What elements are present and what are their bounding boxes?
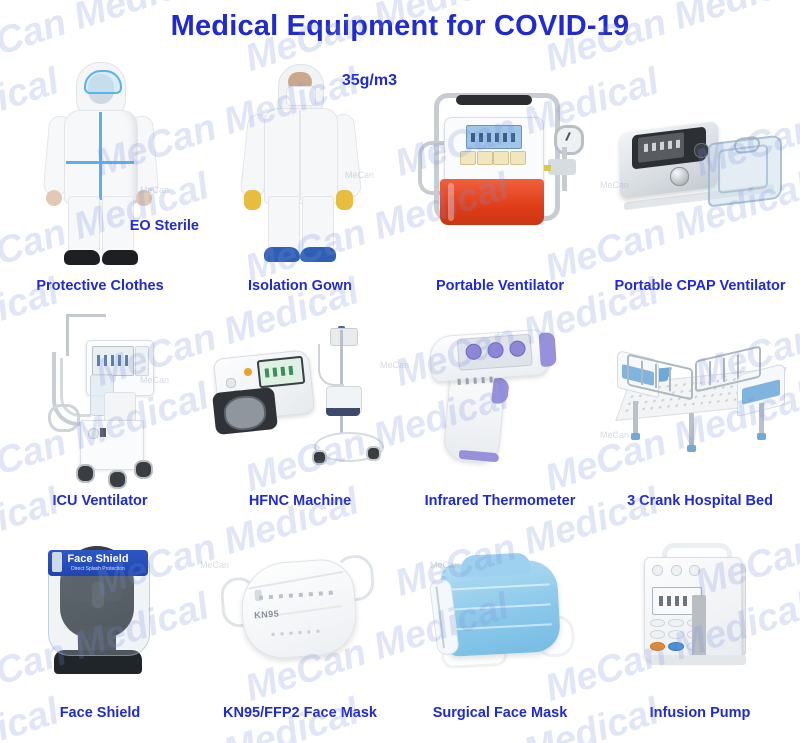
face-shield-subtitle-text: Direct Splash Protection (48, 566, 148, 572)
face-shield-mannequin-icon: Face Shield Direct Splash Protection (5, 518, 195, 705)
hospital-bed-3-crank-icon (605, 305, 795, 493)
product-label-protective-clothes: Protective Clothes (5, 278, 195, 305)
kn95-printed-text: KN95 (254, 609, 280, 621)
product-label-face-shield: Face Shield (5, 705, 195, 730)
product-cell-icu-ventilator[interactable]: ICU Ventilator (0, 305, 200, 518)
surgical-face-mask-icon (405, 518, 595, 705)
product-cell-infusion-pump[interactable]: Infusion Pump (600, 518, 800, 730)
product-label-infusion-pump: Infusion Pump (605, 705, 795, 730)
portable-ventilator-device-icon (405, 50, 595, 278)
product-label-isolation-gown: Isolation Gown (205, 278, 395, 305)
product-label-portable-cpap-ventilator: Portable CPAP Ventilator (605, 278, 795, 305)
overlay-note-eo-sterile: EO Sterile (130, 218, 199, 234)
product-cell-portable-cpap-ventilator[interactable]: Portable CPAP Ventilator (600, 50, 800, 305)
product-label-hfnc-machine: HFNC Machine (205, 493, 395, 518)
product-grid: EO Sterile Protective Clothes 35g/m3 Iso… (0, 50, 800, 743)
product-cell-isolation-gown[interactable]: 35g/m3 Isolation Gown (200, 50, 400, 305)
icu-ventilator-cart-icon (5, 305, 195, 493)
product-cell-kn95-face-mask[interactable]: KN95 KN95/FFP2 Face Mask (200, 518, 400, 730)
product-cell-infrared-thermometer[interactable]: Infrared Thermometer (400, 305, 600, 518)
infrared-thermometer-gun-icon (405, 305, 595, 493)
product-cell-protective-clothes[interactable]: EO Sterile Protective Clothes (0, 50, 200, 305)
hfnc-machine-device-icon (205, 305, 395, 493)
page-title-text: Medical Equipment for COVID-19 (171, 10, 630, 43)
product-label-hospital-bed: 3 Crank Hospital Bed (605, 493, 795, 518)
page-title: Medical Equipment for COVID-19 (0, 0, 800, 52)
product-cell-hospital-bed[interactable]: 3 Crank Hospital Bed (600, 305, 800, 518)
product-label-kn95-face-mask: KN95/FFP2 Face Mask (205, 705, 395, 730)
product-cell-surgical-face-mask[interactable]: Surgical Face Mask (400, 518, 600, 730)
overlay-note-grams-per-m3: 35g/m3 (342, 72, 397, 90)
kn95-face-mask-icon: KN95 (205, 518, 395, 705)
product-label-infrared-thermometer: Infrared Thermometer (405, 493, 595, 518)
product-label-surgical-face-mask: Surgical Face Mask (405, 705, 595, 730)
face-shield-brand-text: Face Shield (48, 553, 148, 565)
product-cell-portable-ventilator[interactable]: Portable Ventilator (400, 50, 600, 305)
infusion-pump-device-icon (605, 518, 795, 705)
cpap-ventilator-device-icon (605, 50, 795, 278)
product-label-portable-ventilator: Portable Ventilator (405, 278, 595, 305)
product-label-icu-ventilator: ICU Ventilator (5, 493, 195, 518)
protective-coverall-person-icon: EO Sterile (5, 50, 195, 278)
isolation-gown-person-icon: 35g/m3 (205, 50, 395, 278)
product-cell-hfnc-machine[interactable]: HFNC Machine (200, 305, 400, 518)
product-cell-face-shield[interactable]: Face Shield Direct Splash Protection Fac… (0, 518, 200, 730)
